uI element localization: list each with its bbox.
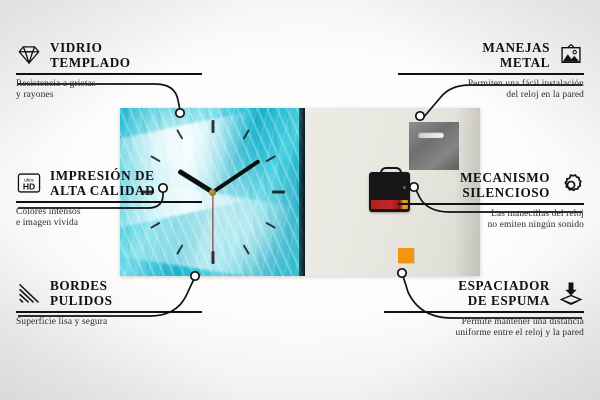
down-arrow-stack-icon	[558, 280, 584, 306]
feature-description: Resistencia a grietas y rayones	[16, 79, 202, 102]
feature-mecanismo-silencioso: MECANISMO SILENCIOSO Las manecillas del …	[398, 170, 584, 231]
title-underline	[384, 311, 584, 313]
feature-title-row: MANEJAS METAL	[398, 40, 584, 70]
feature-title: BORDES PULIDOS	[50, 278, 112, 308]
feature-espaciador-de-espuma: ESPACIADOR DE ESPUMA Permite mantener un…	[384, 278, 584, 339]
feature-impresion-alta-calidad: ultra HD IMPRESIÓN DE ALTA CALIDAD Color…	[16, 168, 202, 229]
feature-title: IMPRESIÓN DE ALTA CALIDAD	[50, 168, 155, 198]
title-underline	[16, 73, 202, 75]
feature-description: Permiten una fácil instalación del reloj…	[398, 79, 584, 102]
feature-title-row: BORDES PULIDOS	[16, 278, 202, 308]
feature-description: Permite mantener una distancia uniforme …	[384, 317, 584, 340]
feature-description: Las manecillas del reloj no emiten ningú…	[398, 209, 584, 232]
title-underline	[16, 311, 202, 313]
feature-manejas-metal: MANEJAS METAL Permiten una fácil instala…	[398, 40, 584, 101]
feature-title: MECANISMO SILENCIOSO	[460, 170, 550, 200]
title-underline	[398, 73, 584, 75]
clock-tick	[265, 155, 276, 162]
clock-tick	[242, 244, 249, 255]
clock-tick	[211, 120, 214, 133]
clock-tick	[272, 191, 285, 194]
feature-title-row: MECANISMO SILENCIOSO	[398, 170, 584, 200]
ultra-hd-icon: ultra HD	[16, 170, 42, 196]
clock-tick	[150, 155, 161, 162]
feature-title: MANEJAS METAL	[482, 40, 550, 70]
metal-hanger-plate	[409, 122, 459, 170]
second-hand	[212, 192, 213, 258]
clock-tick	[265, 222, 276, 229]
hanger-slot	[418, 132, 444, 138]
feature-vidrio-templado: VIDRIO TEMPLADO Resistencia a grietas y …	[16, 40, 202, 101]
clock-center-pin	[209, 189, 216, 196]
feature-description: Colores intensos e imagen vívida	[16, 207, 202, 230]
feature-bordes-pulidos: BORDES PULIDOS Superficie lisa y segura	[16, 278, 202, 328]
feature-title-row: ultra HD IMPRESIÓN DE ALTA CALIDAD	[16, 168, 202, 198]
clock-tick	[176, 244, 183, 255]
feature-title: ESPACIADOR DE ESPUMA	[458, 278, 550, 308]
feature-description: Superficie lisa y segura	[16, 317, 202, 328]
title-underline	[16, 201, 202, 203]
title-underline	[398, 203, 584, 205]
polished-edge-icon	[16, 280, 42, 306]
diamond-icon	[16, 42, 42, 68]
feature-title-row: VIDRIO TEMPLADO	[16, 40, 202, 70]
svg-text:HD: HD	[23, 182, 35, 192]
clock-tick	[242, 129, 249, 140]
hanging-picture-icon	[558, 42, 584, 68]
feature-title: VIDRIO TEMPLADO	[50, 40, 131, 70]
gear-icon	[558, 172, 584, 198]
foam-spacer	[398, 248, 414, 263]
clock-tick	[176, 129, 183, 140]
infographic-canvas: VIDRIO TEMPLADO Resistencia a grietas y …	[0, 0, 600, 400]
feature-title-row: ESPACIADOR DE ESPUMA	[384, 278, 584, 308]
